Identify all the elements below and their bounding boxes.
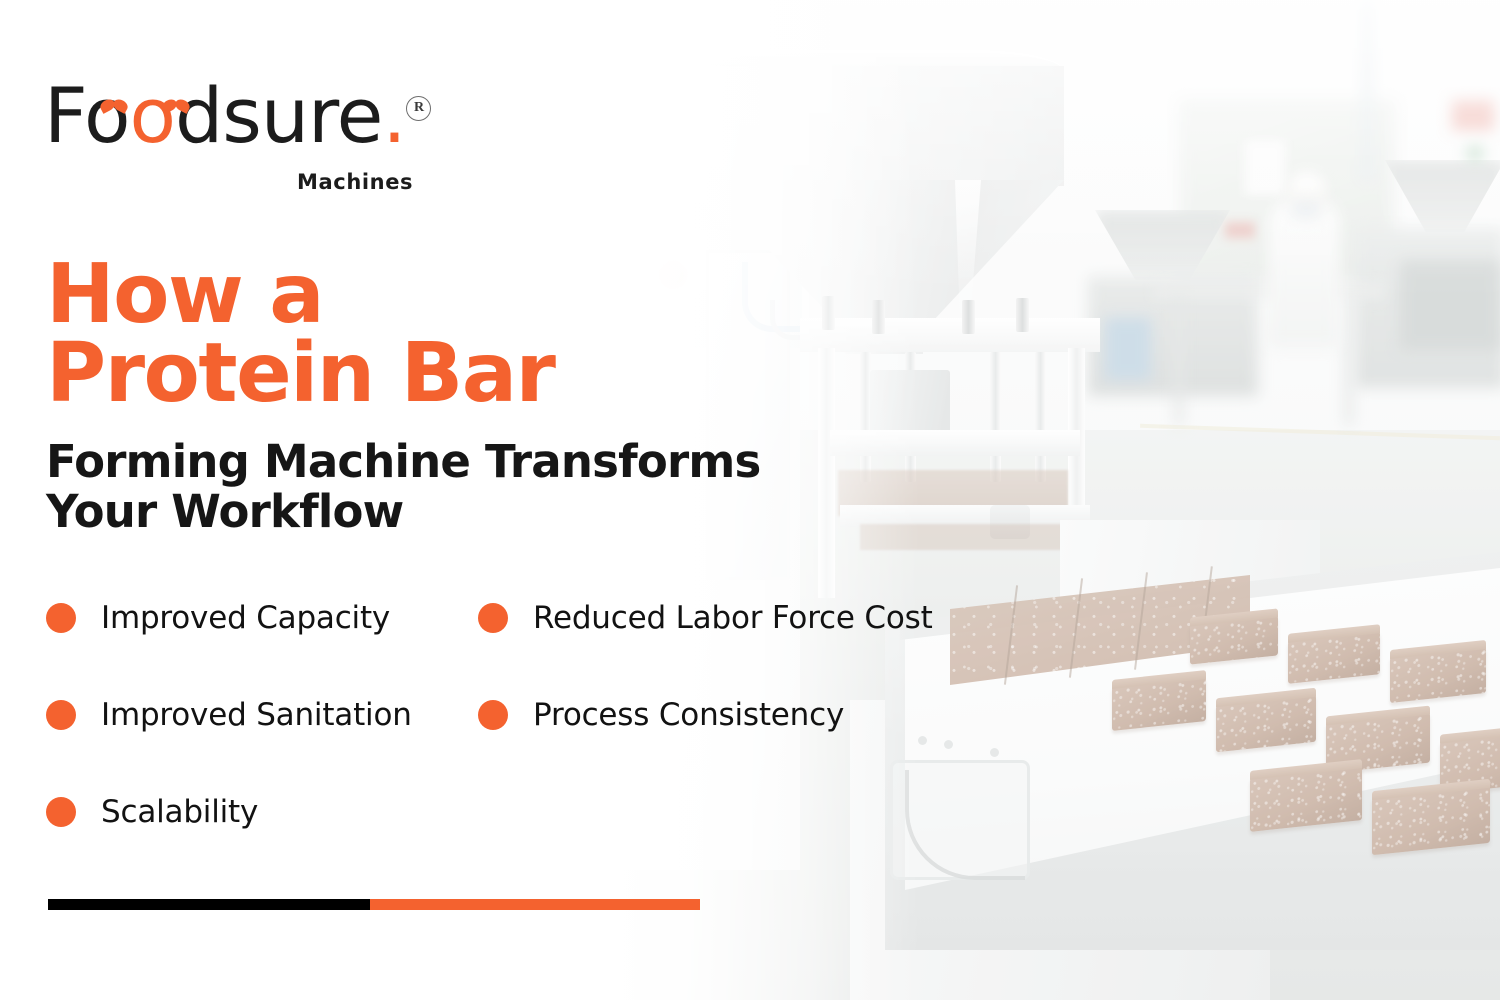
divider-dark-segment (48, 899, 370, 910)
benefit-label: Process Consistency (533, 697, 844, 733)
logo-letter-o-orange: o (130, 71, 176, 160)
headline-line-1: How a (46, 256, 555, 335)
page-title: How a Protein Bar (46, 256, 555, 413)
bullet-dot-icon (46, 700, 76, 730)
benefits-row: Scalability (46, 794, 996, 891)
benefits-row: Improved Capacity Reduced Labor Force Co… (46, 600, 996, 697)
bullet-dot-icon (478, 700, 508, 730)
benefit-item-improved-sanitation: Improved Sanitation (46, 697, 412, 733)
logo-letter-f: F (44, 71, 84, 160)
logo-period: . (382, 71, 405, 160)
benefit-item-reduced-labor-force-cost: Reduced Labor Force Cost (478, 600, 933, 636)
orange-leaf-icon (162, 100, 192, 114)
headline-line-2: Protein Bar (46, 335, 555, 414)
registered-trademark-icon: R (406, 96, 431, 121)
accent-divider (48, 899, 700, 910)
bullet-dot-icon (46, 797, 76, 827)
benefit-label: Improved Sanitation (101, 697, 412, 733)
brand-logo[interactable]: Foodsure. R Machines (44, 78, 406, 154)
bullet-dot-icon (478, 603, 508, 633)
page-subtitle: Forming Machine Transforms Your Workflow (46, 437, 760, 538)
subheadline-line-2: Your Workflow (46, 487, 760, 537)
benefit-item-improved-capacity: Improved Capacity (46, 600, 390, 636)
logo-letters-dsure: dsure (175, 71, 382, 160)
benefit-item-scalability: Scalability (46, 794, 258, 830)
logo-sub-label: Machines (297, 170, 413, 194)
benefits-list: Improved Capacity Reduced Labor Force Co… (46, 600, 996, 891)
benefit-label: Scalability (101, 794, 258, 830)
benefit-item-process-consistency: Process Consistency (478, 697, 844, 733)
benefits-row: Improved Sanitation Process Consistency (46, 697, 996, 794)
divider-accent-segment (370, 899, 700, 910)
benefit-label: Reduced Labor Force Cost (533, 600, 933, 636)
subheadline-line-1: Forming Machine Transforms (46, 437, 760, 487)
logo-letter-o-black: o (84, 71, 130, 160)
bullet-dot-icon (46, 603, 76, 633)
orange-leaf-icon (100, 100, 130, 114)
logo-wordmark: Foodsure. R (44, 78, 406, 154)
benefit-label: Improved Capacity (101, 600, 390, 636)
